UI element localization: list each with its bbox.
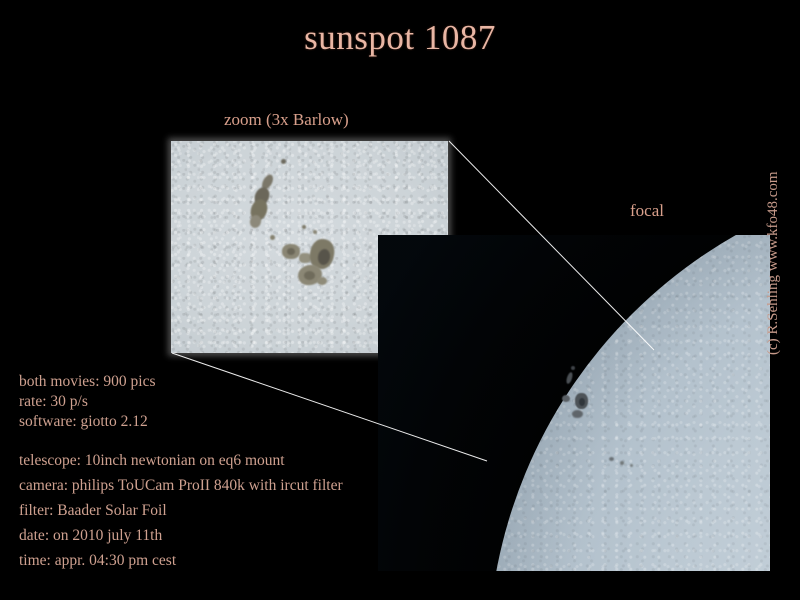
sunspot-zoom-pore-3 xyxy=(313,230,317,234)
zoom-panel-caption: zoom (3x Barlow) xyxy=(224,110,349,130)
capture-info-line-3: software: giotto 2.12 xyxy=(19,412,155,432)
sunspot-focal-upper xyxy=(565,372,573,385)
sunspot-zoom-cluster-lower-core xyxy=(304,271,315,280)
sunspot-zoom-upper xyxy=(281,159,286,164)
sunspot-focal-mid-left xyxy=(562,395,570,402)
sunspot-focal-trail-3 xyxy=(630,464,633,467)
sunspot-poster: sunspot 1087 zoom (3x Barlow) focal xyxy=(0,0,800,600)
sunspot-zoom-cluster-tail xyxy=(317,277,327,285)
sunspot-focal-upper-dot xyxy=(571,366,575,370)
setup-info-block: telescope: 10inch newtonian on eq6 mount… xyxy=(19,448,343,573)
focal-panel-caption: focal xyxy=(630,201,664,221)
sunspot-zoom-pore-1 xyxy=(270,235,275,240)
sunspot-focal-lower xyxy=(572,410,583,418)
sunspot-zoom-cluster-left-core xyxy=(287,248,295,255)
sunspot-focal-trail-2 xyxy=(620,461,624,465)
copyright-credit: (c) R.Sehling www.kfo48.com xyxy=(765,171,782,355)
page-title: sunspot 1087 xyxy=(0,18,800,58)
sunspot-zoom-pore-2 xyxy=(302,225,306,229)
sunspot-focal-main-umbra xyxy=(579,398,585,406)
setup-info-line-time: time: appr. 04:30 pm cest xyxy=(19,548,343,573)
setup-info-line-filter: filter: Baader Solar Foil xyxy=(19,498,343,523)
capture-info-block: both movies: 900 pics rate: 30 p/s softw… xyxy=(19,372,155,432)
solar-disc xyxy=(488,235,770,571)
capture-info-line-2: rate: 30 p/s xyxy=(19,392,155,412)
setup-info-line-telescope: telescope: 10inch newtonian on eq6 mount xyxy=(19,448,343,473)
capture-info-line-1: both movies: 900 pics xyxy=(19,372,155,392)
setup-info-line-date: date: on 2010 july 11th xyxy=(19,523,343,548)
setup-info-line-camera: camera: philips ToUCam ProII 840k with i… xyxy=(19,473,343,498)
granulation-texture-focal xyxy=(488,235,770,571)
focal-image-panel xyxy=(378,235,770,571)
sunspot-focal-trail-1 xyxy=(609,457,614,461)
